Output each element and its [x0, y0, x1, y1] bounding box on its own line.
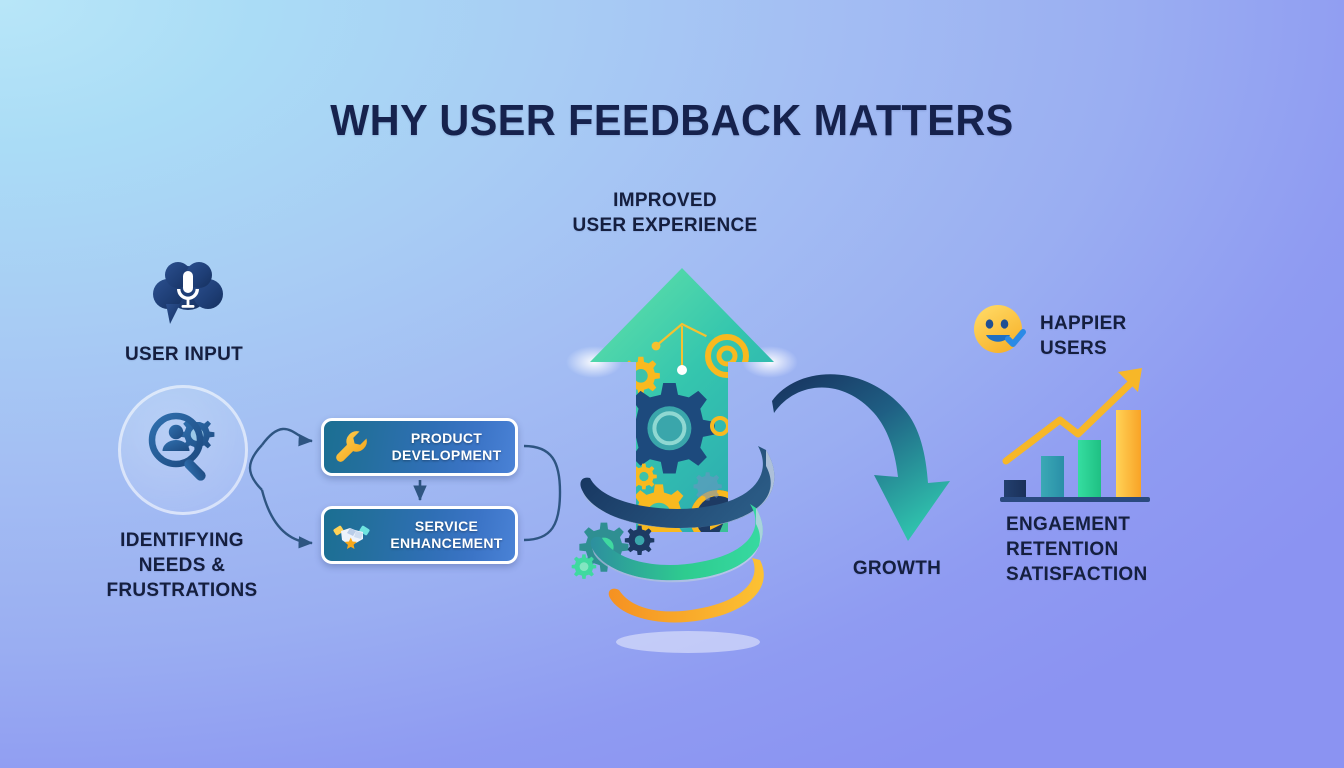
connector-needs-to-product	[262, 429, 312, 445]
wrench-icon	[332, 427, 372, 467]
user-input-label: USER INPUT	[0, 342, 368, 367]
page-title: WHY USER FEEDBACK MATTERS	[40, 96, 1303, 146]
infographic-canvas: WHY USER FEEDBACK MATTERS	[0, 0, 1344, 768]
chart-baseline	[1000, 497, 1150, 502]
connector-needs-bracket	[250, 445, 262, 490]
curved-down-arrow-icon	[770, 355, 1000, 555]
magnifier-user-gear-icon	[138, 405, 230, 497]
trend-arrow	[1006, 382, 1132, 461]
happier-users-label: HAPPIER USERS	[1040, 311, 1240, 361]
bar-4	[1116, 410, 1141, 498]
identifying-needs-label: IDENTIFYING NEEDS & FRUSTRATIONS	[0, 528, 364, 603]
bar-3	[1078, 440, 1101, 498]
connector-service-to-center	[524, 492, 560, 540]
handshake-star-icon	[332, 515, 372, 555]
speech-bubble-microphone-icon	[146, 258, 230, 342]
bar-1	[1004, 480, 1026, 498]
improved-ux-label: IMPROVED USER EXPERIENCE	[520, 188, 810, 238]
growth-label: GROWTH	[812, 556, 982, 581]
smiley-check-icon	[972, 303, 1028, 359]
connector-product-to-center	[524, 446, 560, 492]
bar-2	[1041, 456, 1064, 498]
card-product-development-label: PRODUCT DEVELOPMENT	[378, 430, 515, 464]
card-service-enhancement-label: SERVICE ENHANCEMENT	[378, 518, 515, 552]
bar-chart-growth-icon	[990, 358, 1170, 508]
metrics-label: ENGAEMENT RETENTION SATISFACTION	[1006, 512, 1246, 587]
card-product-development[interactable]: PRODUCT DEVELOPMENT	[321, 418, 518, 476]
card-service-enhancement[interactable]: SERVICE ENHANCEMENT	[321, 506, 518, 564]
upward-arrow-gears-icon	[560, 250, 805, 670]
